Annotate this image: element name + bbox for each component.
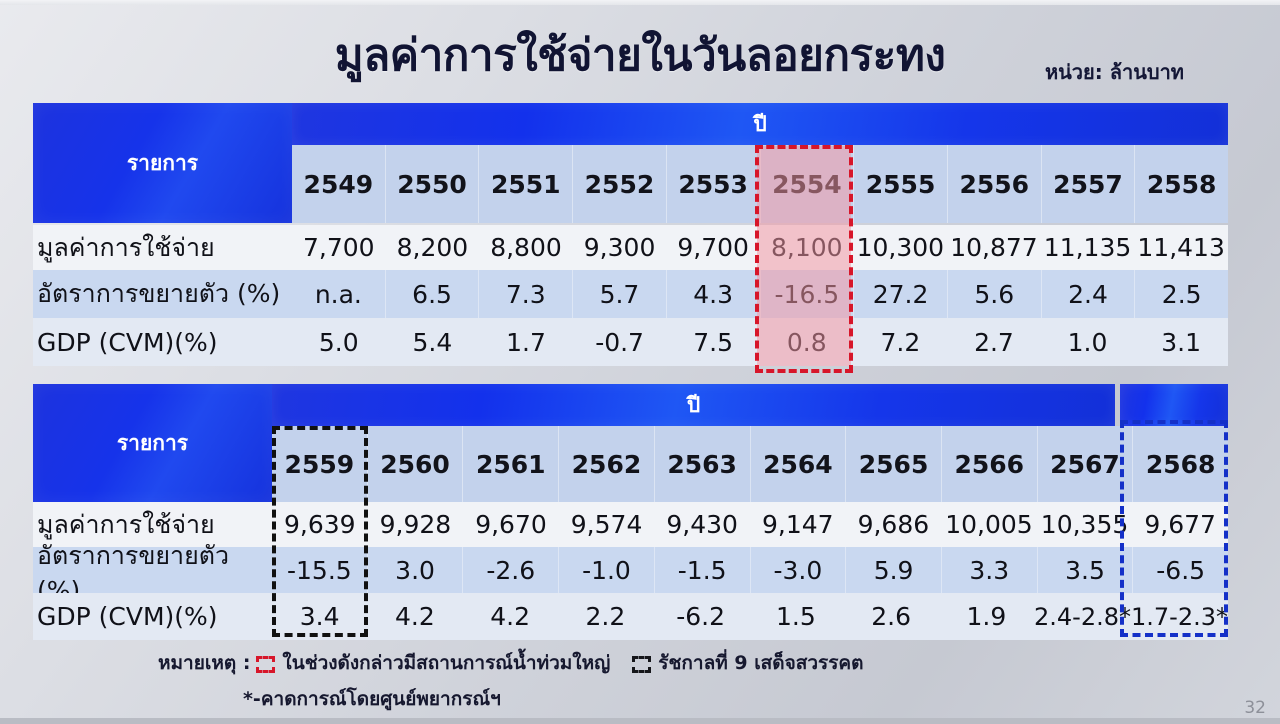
table-cell: 2.5: [1135, 270, 1228, 318]
table-cell: 7.2: [854, 318, 948, 366]
table-cell: -1.0: [559, 547, 655, 593]
table-cell: -6.5: [1133, 547, 1228, 593]
slide-bottom-edge: [0, 718, 1280, 724]
table-1-year-cell[interactable]: 2556: [948, 145, 1042, 223]
table-2-year-cell[interactable]: 2565: [846, 426, 942, 502]
slide-top-edge: [0, 0, 1280, 5]
table-cell: 5.6: [948, 270, 1042, 318]
red-dashed-swatch-icon: [256, 656, 275, 673]
table-cell: 9,677: [1132, 502, 1228, 547]
table-cell: 8,200: [386, 225, 480, 270]
footnote-line-2: *-คาดการณ์โดยศูนย์พยากรณ์ฯ: [243, 684, 501, 714]
table-cell: 11,135: [1041, 225, 1135, 270]
table-cell: 11,413: [1134, 225, 1228, 270]
table-2-row-label: GDP (CVM)(%): [33, 593, 272, 640]
table-cell: -6.2: [653, 593, 748, 640]
table-cell: 4.2: [367, 593, 462, 640]
table-1-band-label: ปี: [292, 103, 1228, 135]
table-cell: 1.0: [1041, 318, 1135, 366]
table-cell: 3.3: [942, 547, 1038, 593]
table-cell: 5.9: [846, 547, 942, 593]
table-cell: 10,355: [1037, 502, 1133, 547]
table-2-year-header-row: 2559 2560 2561 2562 2563 2564 2565 2566 …: [272, 426, 1228, 502]
table-2-year-cell[interactable]: 2568: [1133, 426, 1228, 502]
table-2-row-header-cell: รายการ: [33, 384, 272, 502]
table-cell: 0.8: [760, 318, 854, 366]
table-cell: 3.1: [1134, 318, 1228, 366]
table-cell: -15.5: [272, 547, 368, 593]
table-1-year-band: ปี: [292, 103, 1228, 145]
table-2-row-label: อัตราการขยายตัว (%): [33, 547, 272, 593]
table-cell: 9,300: [573, 225, 667, 270]
table-cell: 7,700: [292, 225, 386, 270]
table-2-year-cell[interactable]: 2561: [463, 426, 559, 502]
table-1-year-cell[interactable]: 2550: [386, 145, 480, 223]
table-cell: 1.9: [939, 593, 1034, 640]
table-cell: 8,100: [760, 225, 854, 270]
table-row: มูลค่าการใช้จ่าย 7,700 8,200 8,800 9,300…: [33, 225, 1228, 270]
table-2-row-header-label: รายการ: [117, 427, 188, 460]
table-1-row-label: มูลค่าการใช้จ่าย: [33, 225, 292, 270]
table-cell: 1.5: [748, 593, 843, 640]
table-1-year-cell[interactable]: 2555: [854, 145, 948, 223]
table-cell: 3.0: [368, 547, 464, 593]
table-cell: 10,300: [854, 225, 948, 270]
table-cell: 2.6: [844, 593, 939, 640]
table-2-year-cell[interactable]: 2562: [559, 426, 655, 502]
table-1-row-cells: n.a. 6.5 7.3 5.7 4.3 -16.5 27.2 5.6 2.4 …: [292, 270, 1228, 318]
footnote-line-1: หมายเหตุ : ในช่วงดังกล่าวมีสถานการณ์น้ำท…: [158, 648, 863, 678]
table-2-year-cell[interactable]: 2564: [751, 426, 847, 502]
table-cell: 9,147: [750, 502, 846, 547]
footnote-black-note: รัชกาลที่ 9 เสด็จสวรรคต: [658, 648, 863, 678]
table-cell: -1.5: [655, 547, 751, 593]
table-cell: 9,430: [654, 502, 750, 547]
table-cell: 3.5: [1038, 547, 1134, 593]
table-1-year-cell[interactable]: 2554: [761, 145, 855, 223]
table-cell: 10,877: [947, 225, 1041, 270]
unit-label: หน่วย: ล้านบาท: [1045, 56, 1184, 88]
table-cell: 9,686: [846, 502, 942, 547]
page-number: 32: [1244, 698, 1266, 718]
table-1-row-header-cell: รายการ: [33, 103, 292, 223]
table-cell: 2.2: [558, 593, 653, 640]
table-cell: 4.2: [463, 593, 558, 640]
table-row: อัตราการขยายตัว (%) -15.5 3.0 -2.6 -1.0 …: [33, 547, 1228, 593]
black-dashed-swatch-icon: [632, 656, 651, 673]
footnote-red-note: ในช่วงดังกล่าวมีสถานการณ์น้ำท่วมใหญ่: [282, 648, 610, 678]
table-1-year-cell[interactable]: 2557: [1042, 145, 1136, 223]
table-row: อัตราการขยายตัว (%) n.a. 6.5 7.3 5.7 4.3…: [33, 270, 1228, 318]
table-1-year-header-row: 2549 2550 2551 2552 2553 2554 2555 2556 …: [292, 145, 1228, 223]
table-cell: 1.7-2.3*: [1131, 593, 1228, 640]
table-cell: 6.5: [386, 270, 480, 318]
table-row: GDP (CVM)(%) 5.0 5.4 1.7 -0.7 7.5 0.8 7.…: [33, 318, 1228, 366]
table-cell: -3.0: [751, 547, 847, 593]
table-cell: 5.7: [573, 270, 667, 318]
table-cell: -16.5: [761, 270, 855, 318]
slide-root: มูลค่าการใช้จ่ายในวันลอยกระทง หน่วย: ล้า…: [0, 0, 1280, 724]
table-2-year-band: ปี: [272, 384, 1115, 426]
title-area: มูลค่าการใช้จ่ายในวันลอยกระทง หน่วย: ล้า…: [0, 28, 1280, 90]
table-1-year-cell[interactable]: 2551: [479, 145, 573, 223]
table-2-band-label: ปี: [272, 384, 1115, 416]
table-2-year-band-segment: [1120, 384, 1228, 426]
table-1-row-cells: 7,700 8,200 8,800 9,300 9,700 8,100 10,3…: [292, 225, 1228, 270]
table-cell: -0.7: [573, 318, 667, 366]
table-1-year-cell[interactable]: 2549: [292, 145, 386, 223]
table-cell: 3.4: [272, 593, 367, 640]
table-cell: 5.0: [292, 318, 386, 366]
table-cell: 9,670: [463, 502, 559, 547]
table-2-year-cell[interactable]: 2560: [368, 426, 464, 502]
table-1-year-cell[interactable]: 2552: [573, 145, 667, 223]
table-2-row-cells: 3.4 4.2 4.2 2.2 -6.2 1.5 2.6 1.9 2.4-2.8…: [272, 593, 1228, 640]
table-1-row-cells: 5.0 5.4 1.7 -0.7 7.5 0.8 7.2 2.7 1.0 3.1: [292, 318, 1228, 366]
table-cell: 8,800: [479, 225, 573, 270]
footnote-prefix: หมายเหตุ :: [158, 648, 250, 678]
table-cell: n.a.: [292, 270, 386, 318]
table-row: GDP (CVM)(%) 3.4 4.2 4.2 2.2 -6.2 1.5 2.…: [33, 593, 1228, 640]
table-cell: 2.4-2.8*: [1034, 593, 1131, 640]
table-cell: 7.3: [479, 270, 573, 318]
table-cell: -2.6: [463, 547, 559, 593]
table-2-row-cells: 9,639 9,928 9,670 9,574 9,430 9,147 9,68…: [272, 502, 1228, 547]
table-cell: 10,005: [941, 502, 1037, 547]
table-cell: 7.5: [666, 318, 760, 366]
table-cell: 9,639: [272, 502, 368, 547]
table-1-row-label: GDP (CVM)(%): [33, 318, 292, 366]
table-2-year-cell[interactable]: 2567: [1038, 426, 1134, 502]
table-cell: 2.7: [947, 318, 1041, 366]
table-cell: 9,928: [368, 502, 464, 547]
table-cell: 9,700: [666, 225, 760, 270]
table-cell: 4.3: [667, 270, 761, 318]
table-1-row-label: อัตราการขยายตัว (%): [33, 270, 292, 318]
table-cell: 9,574: [559, 502, 655, 547]
table-2-year-cell[interactable]: 2559: [272, 426, 368, 502]
table-2-row-cells: -15.5 3.0 -2.6 -1.0 -1.5 -3.0 5.9 3.3 3.…: [272, 547, 1228, 593]
table-2-year-cell[interactable]: 2566: [942, 426, 1038, 502]
table-cell: 1.7: [479, 318, 573, 366]
table-1-row-header-label: รายการ: [127, 147, 198, 180]
table-cell: 27.2: [854, 270, 948, 318]
table-cell: 5.4: [386, 318, 480, 366]
table-cell: 2.4: [1042, 270, 1136, 318]
table-2-year-cell[interactable]: 2563: [655, 426, 751, 502]
table-1-year-cell[interactable]: 2558: [1135, 145, 1228, 223]
table-1-year-cell[interactable]: 2553: [667, 145, 761, 223]
